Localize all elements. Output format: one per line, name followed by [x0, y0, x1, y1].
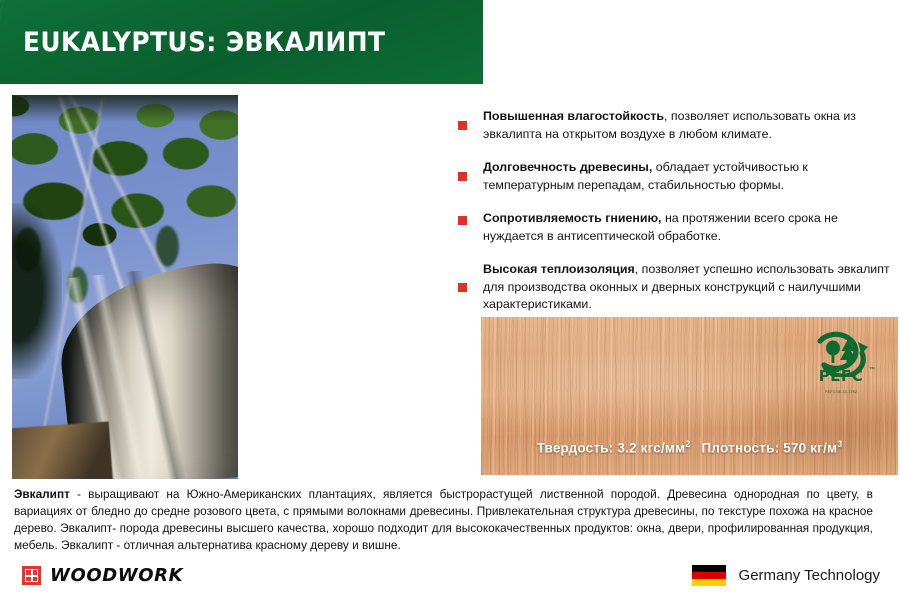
bullet-heading: Долговечность древесины,	[483, 160, 652, 174]
photo-left-shadow	[12, 203, 62, 380]
bullet-square-icon	[458, 121, 467, 130]
bullet-text: Повышенная влагостойкость, позволяет исп…	[483, 108, 894, 143]
photo-top-shadow	[12, 95, 238, 122]
list-item: Сопротивляемость гниению, на протяжении …	[458, 210, 894, 245]
wood-specs-text: Твердость: 3.2 кгс/мм2Плотность: 570 кг/…	[481, 439, 898, 456]
technology-footer: Germany Technology	[692, 565, 880, 586]
description-body: - выращивают на Южно-Американских планта…	[14, 487, 873, 552]
germany-flag-icon	[692, 565, 726, 586]
pefc-certification-logo: PEFC ™ PEFC/06-33-1282	[806, 329, 876, 395]
woodwork-window-icon	[22, 566, 41, 585]
photo-ground-debris	[12, 422, 113, 479]
wood-texture-panel: PEFC ™ PEFC/06-33-1282 Твердость: 3.2 кг…	[481, 317, 898, 475]
bullet-heading: Высокая теплоизоляция	[483, 262, 635, 276]
bullet-heading: Повышенная влагостойкость	[483, 109, 664, 123]
pefc-wordmark: PEFC	[806, 367, 876, 385]
bullet-text: Сопротивляемость гниению, на протяжении …	[483, 210, 894, 245]
bullet-text: Высокая теплоизоляция, позволяет успешно…	[483, 261, 894, 314]
description-paragraph: Эвкалипт - выращивают на Южно-Американск…	[14, 486, 873, 554]
bullet-heading: Сопротивляемость гниению,	[483, 211, 662, 225]
feature-bullet-list: Повышенная влагостойкость, позволяет исп…	[458, 108, 894, 314]
bullet-square-icon	[458, 172, 467, 181]
slide-header-bar: EUKALYPTUS: ЭВКАЛИПТ	[0, 0, 483, 84]
density-exponent: 3	[837, 439, 842, 449]
technology-label: Germany Technology	[739, 567, 880, 584]
brand-name: WOODWORK	[50, 565, 183, 586]
bullet-square-icon	[458, 216, 467, 225]
woodwork-window-frame	[25, 569, 38, 582]
brand-footer: WOODWORK	[22, 565, 183, 586]
description-lead: Эвкалипт	[14, 487, 70, 501]
list-item: Высокая теплоизоляция, позволяет успешно…	[458, 261, 894, 314]
hardness-exponent: 2	[685, 439, 690, 449]
bullet-square-icon	[458, 283, 467, 292]
pefc-trademark-symbol: ™	[869, 367, 875, 373]
eucalyptus-tree-photo	[12, 95, 238, 479]
pefc-code-text: PEFC/06-33-1282	[806, 390, 876, 394]
hardness-label: Твердость: 3.2 кгс/мм	[537, 440, 686, 455]
list-item: Долговечность древесины, обладает устойч…	[458, 159, 894, 194]
list-item: Повышенная влагостойкость, позволяет исп…	[458, 108, 894, 143]
page-title: EUKALYPTUS: ЭВКАЛИПТ	[0, 27, 385, 58]
density-label: Плотность: 570 кг/м	[702, 440, 838, 455]
bullet-text: Долговечность древесины, обладает устойч…	[483, 159, 894, 194]
